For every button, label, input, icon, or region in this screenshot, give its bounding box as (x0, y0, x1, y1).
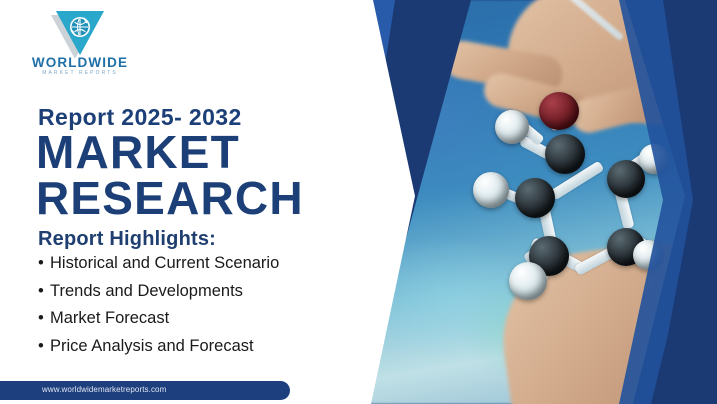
list-item-label: Price Analysis and Forecast (50, 337, 254, 355)
globe-in-triangle-icon (48, 6, 108, 58)
bullet-icon: • (38, 310, 50, 327)
list-item: •Trends and Developments (38, 283, 279, 300)
bullet-icon: • (38, 338, 50, 355)
highlights-list: •Historical and Current Scenario •Trends… (38, 255, 279, 365)
logo-wordmark: WORLDWIDE (30, 56, 130, 70)
website-url-label: www.worldwidemarketreports.com (42, 385, 166, 394)
highlights-heading: Report Highlights: (38, 228, 216, 251)
content-panel: WORLDWIDE MARKET REPORTS Report 2025- 20… (0, 0, 360, 404)
list-item-label: Trends and Developments (50, 282, 243, 300)
bullet-icon: • (38, 255, 50, 272)
logo[interactable]: WORLDWIDE MARKET REPORTS (30, 6, 130, 82)
list-item-label: Historical and Current Scenario (50, 254, 279, 272)
website-url-bar[interactable]: www.worldwidemarketreports.com (0, 381, 290, 400)
list-item: •Price Analysis and Forecast (38, 338, 279, 355)
page-title-line2: RESEARCH (36, 175, 304, 222)
list-item: •Historical and Current Scenario (38, 255, 279, 272)
list-item-label: Market Forecast (50, 309, 169, 327)
logo-subwordmark: MARKET REPORTS (30, 71, 130, 76)
market-research-report-banner: WORLDWIDE MARKET REPORTS Report 2025- 20… (0, 0, 717, 404)
list-item: •Market Forecast (38, 310, 279, 327)
bullet-icon: • (38, 283, 50, 300)
page-title-line1: MARKET (36, 129, 240, 176)
